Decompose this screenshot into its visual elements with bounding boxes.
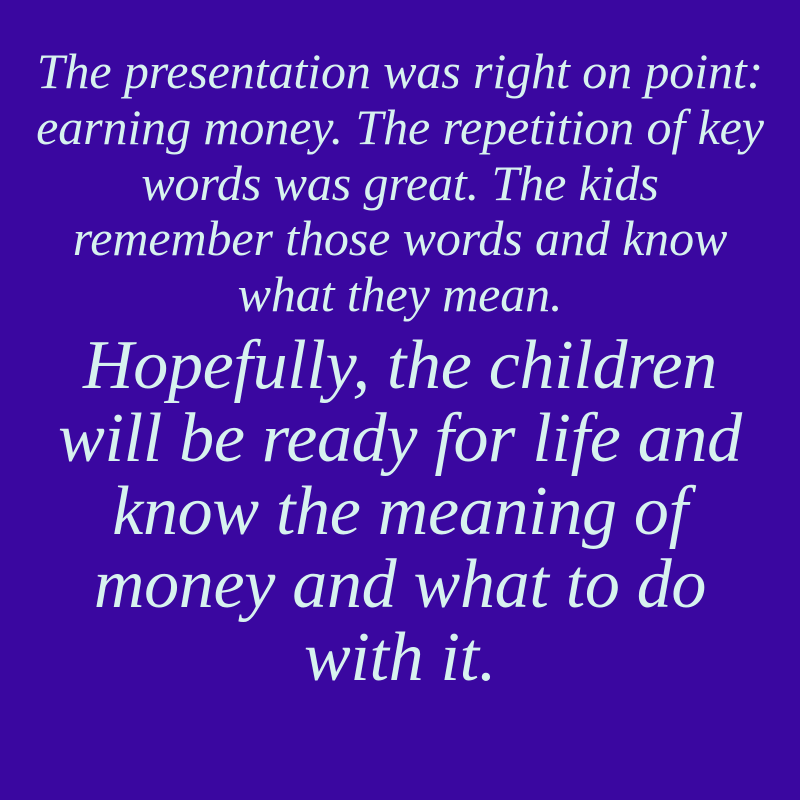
quote-paragraph-primary: The presentation was right on point: ear… xyxy=(14,44,786,323)
quote-card: The presentation was right on point: ear… xyxy=(0,0,800,800)
quote-paragraph-secondary: Hopefully, the children will be ready fo… xyxy=(30,329,770,695)
